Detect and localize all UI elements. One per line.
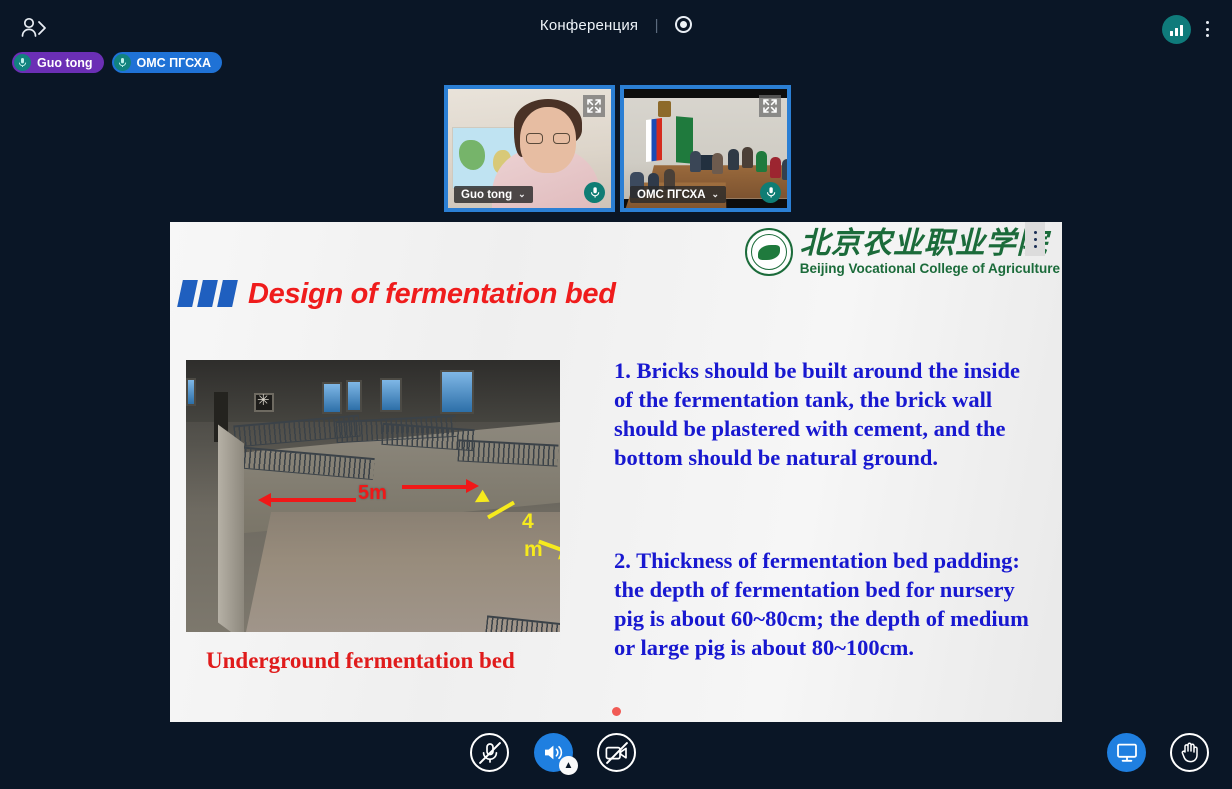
participant-badge-label: ОМС ПГСХА: [137, 56, 211, 70]
slide-point-2: 2. Thickness of fermentation bed padding…: [614, 546, 1034, 662]
chevron-down-icon: ⌄: [518, 189, 526, 200]
signal-strength-icon[interactable]: [1162, 15, 1191, 44]
college-seal-icon: [745, 228, 793, 276]
video-tile-oms-pgsha[interactable]: ОМС ПГСХА ⌄: [620, 85, 791, 212]
microphone-icon: [114, 54, 131, 71]
width-annotation-line-left: [270, 498, 356, 502]
slide-pagination: [170, 707, 1062, 716]
top-bar: Конференция |: [0, 0, 1232, 56]
chevron-up-icon[interactable]: ▲: [559, 756, 578, 775]
shared-presentation-slide[interactable]: 北京农业职业学院 Beijing Vocational College of A…: [170, 222, 1062, 722]
photo-caption: Underground fermentation bed: [206, 648, 515, 674]
fermentation-bed-photo: 5m 4 m: [186, 360, 560, 632]
video-tile-label-oms-pgsha[interactable]: ОМС ПГСХА ⌄: [630, 186, 726, 203]
slide-title: Design of fermentation bed: [248, 278, 616, 311]
expand-fullscreen-icon[interactable]: [759, 95, 781, 117]
speaker-button[interactable]: ▲: [534, 733, 573, 772]
video-tile-guo-tong[interactable]: Guo tong ⌄: [444, 85, 615, 212]
microphone-icon: [14, 54, 31, 71]
raise-hand-button[interactable]: [1170, 733, 1209, 772]
width-annotation-line-right: [402, 485, 467, 489]
college-name-chinese: 北京农业职业学院: [800, 229, 1060, 259]
participant-badge-guo-tong[interactable]: Guo tong: [12, 52, 104, 73]
width-annotation-arrow-right: [466, 479, 479, 493]
slide-kebab-menu-icon[interactable]: [1025, 222, 1045, 256]
record-dot-icon[interactable]: [675, 16, 692, 33]
participant-badge-oms-pgsha[interactable]: ОМС ПГСХА: [112, 52, 222, 73]
microphone-icon[interactable]: [760, 182, 781, 203]
conference-title-bar: Конференция |: [0, 16, 1232, 34]
depth-annotation-label-line1: 4: [522, 510, 534, 534]
expand-fullscreen-icon[interactable]: [583, 95, 605, 117]
slide-point-1: 1. Bricks should be built around the ins…: [614, 356, 1034, 472]
chevron-down-icon: ⌄: [712, 189, 720, 200]
title-divider: |: [655, 17, 659, 34]
video-tile-strip: Guo tong ⌄: [444, 85, 791, 212]
title-bars-decoration: [180, 280, 235, 307]
width-annotation-label: 5m: [358, 482, 387, 505]
college-name-english: Beijing Vocational College of Agricultur…: [800, 262, 1060, 276]
kebab-menu-icon[interactable]: [1200, 19, 1214, 39]
meeting-app-window: Конференция | Guo tong: [0, 0, 1232, 789]
participant-badge-list: Guo tong ОМС ПГСХА: [12, 52, 222, 73]
college-logo: 北京农业职业学院 Beijing Vocational College of A…: [745, 226, 1060, 278]
present-screen-button[interactable]: [1107, 733, 1146, 772]
slide-page-dot[interactable]: [612, 707, 621, 716]
participant-badge-label: Guo tong: [37, 56, 93, 70]
microphone-icon[interactable]: [584, 182, 605, 203]
camera-mute-button[interactable]: [597, 733, 636, 772]
meeting-controls-bar: ▲: [0, 721, 1232, 783]
width-annotation-arrow-left: [258, 493, 271, 507]
microphone-mute-button[interactable]: [470, 733, 509, 772]
video-tile-label-text: Guo tong: [461, 189, 512, 201]
page-title: Конференция: [540, 17, 638, 34]
video-tile-label-guo-tong[interactable]: Guo tong ⌄: [454, 186, 533, 203]
video-tile-label-text: ОМС ПГСХА: [637, 189, 706, 201]
